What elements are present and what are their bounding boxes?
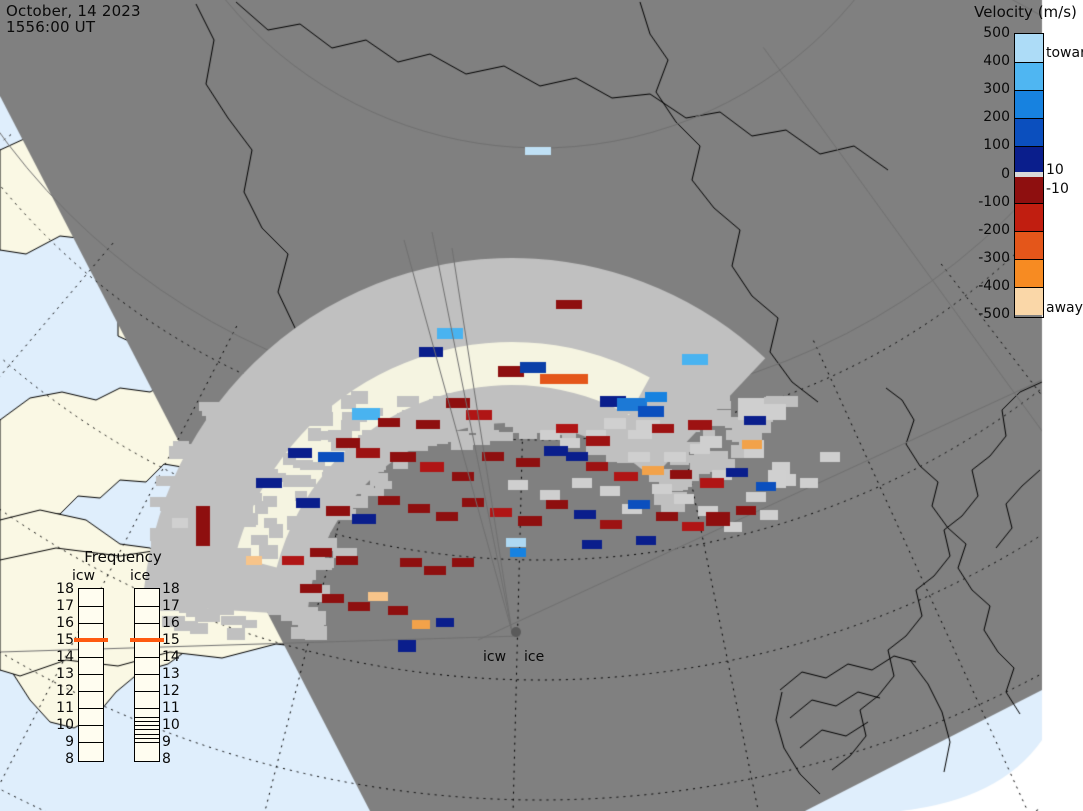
frequency-axis-label-left: 10 xyxy=(56,718,74,732)
colorbar-tick-label: -100 xyxy=(962,195,1010,209)
frequency-axis-label-right: 14 xyxy=(162,650,182,664)
frequency-axis-label-right: 17 xyxy=(162,599,182,613)
frequency-tick xyxy=(135,691,159,692)
colorbar-tick-label: 500 xyxy=(962,26,1010,40)
frequency-tick xyxy=(79,742,103,743)
colorbar-upper-threshold-label: 10 xyxy=(1046,163,1064,177)
fan-plot-figure: October, 14 2023 1556:00 UT Velocity (m/… xyxy=(0,0,1083,811)
frequency-axis-label-left: 15 xyxy=(56,633,74,647)
colorbar-segment xyxy=(1015,287,1043,315)
frequency-tick xyxy=(135,606,159,607)
velocity-colorbar: Velocity (m/s) 5004003002001000-100-200-… xyxy=(962,0,1083,340)
frequency-tick xyxy=(135,623,159,624)
frequency-tick xyxy=(79,725,103,726)
radar-site-label-ice: ice xyxy=(524,649,544,665)
frequency-axis-label-right: 9 xyxy=(162,735,182,749)
frequency-marker-icw xyxy=(74,638,108,642)
colorbar-segment xyxy=(1015,177,1043,202)
frequency-tick xyxy=(79,623,103,624)
colorbar-tick-labels: 5004003002001000-100-200-300-400-500 xyxy=(960,26,1010,322)
frequency-axis-label-right: 16 xyxy=(162,616,182,630)
colorbar-segment xyxy=(1015,203,1043,231)
colorbar-lower-threshold-label: -10 xyxy=(1046,182,1069,196)
frequency-axis-label-left: 13 xyxy=(56,667,74,681)
frequency-marker-ice xyxy=(130,638,164,642)
colorbar-tick-label: 300 xyxy=(962,82,1010,96)
frequency-legend: Frequency icw ice 1818171716161515141413… xyxy=(58,548,188,778)
frequency-tick xyxy=(135,674,159,675)
colorbar-gradient xyxy=(1014,33,1044,318)
colorbar-segment xyxy=(1015,118,1043,146)
colorbar-tick-label: 100 xyxy=(962,138,1010,152)
colorbar-away-label: away xyxy=(1046,301,1083,315)
frequency-subtick xyxy=(135,729,159,730)
frequency-tick xyxy=(79,657,103,658)
colorbar-tick-label: 400 xyxy=(962,54,1010,68)
frequency-tick xyxy=(79,606,103,607)
frequency-bar-ice xyxy=(134,588,160,762)
frequency-tick xyxy=(79,708,103,709)
frequency-axis-label-right: 10 xyxy=(162,718,182,732)
frequency-tick xyxy=(135,708,159,709)
colorbar-title: Velocity (m/s) xyxy=(968,3,1083,21)
frequency-tick xyxy=(79,674,103,675)
colorbar-toward-label: toward xyxy=(1046,46,1083,60)
frequency-axis-label-left: 9 xyxy=(56,735,74,749)
frequency-axis-label-right: 12 xyxy=(162,684,182,698)
frequency-axis-label-left: 12 xyxy=(56,684,74,698)
frequency-bar-icw xyxy=(78,588,104,762)
colorbar-tick-label: -500 xyxy=(962,307,1010,321)
radar-site-label-icw: icw xyxy=(483,649,506,665)
frequency-axis-label-left: 18 xyxy=(56,582,74,596)
frequency-axis-label-left: 17 xyxy=(56,599,74,613)
frequency-tick xyxy=(135,725,159,726)
frequency-column-label-icw: icw xyxy=(72,568,95,584)
colorbar-tick-label: 0 xyxy=(962,167,1010,181)
frequency-tick xyxy=(135,657,159,658)
frequency-tick xyxy=(135,742,159,743)
frequency-axis-label-left: 14 xyxy=(56,650,74,664)
colorbar-segment xyxy=(1015,34,1043,62)
frequency-axis-label-right: 18 xyxy=(162,582,182,596)
colorbar-segment xyxy=(1015,62,1043,90)
colorbar-tick-label: -400 xyxy=(962,279,1010,293)
frequency-axis-label-right: 11 xyxy=(162,701,182,715)
colorbar-tick-label: -300 xyxy=(962,251,1010,265)
frequency-column-label-ice: ice xyxy=(130,568,150,584)
colorbar-segment xyxy=(1015,146,1043,171)
frequency-axis-label-left: 16 xyxy=(56,616,74,630)
colorbar-segment xyxy=(1015,259,1043,287)
frequency-subtick xyxy=(135,738,159,739)
colorbar-segment xyxy=(1015,231,1043,259)
frequency-subtick xyxy=(135,721,159,722)
frequency-axis-label-right: 13 xyxy=(162,667,182,681)
frequency-tick xyxy=(79,691,103,692)
colorbar-tick-label: 200 xyxy=(962,110,1010,124)
frequency-subtick xyxy=(135,717,159,718)
frequency-axis-label-right: 8 xyxy=(162,752,182,766)
frequency-legend-title: Frequency xyxy=(58,548,188,566)
colorbar-tick-label: -200 xyxy=(962,223,1010,237)
colorbar-segment xyxy=(1015,90,1043,118)
frequency-axis-label-left: 11 xyxy=(56,701,74,715)
plot-time-label: 1556:00 UT xyxy=(6,18,95,36)
frequency-axis-label-left: 8 xyxy=(56,752,74,766)
frequency-subtick xyxy=(135,734,159,735)
frequency-axis-label-right: 15 xyxy=(162,633,182,647)
